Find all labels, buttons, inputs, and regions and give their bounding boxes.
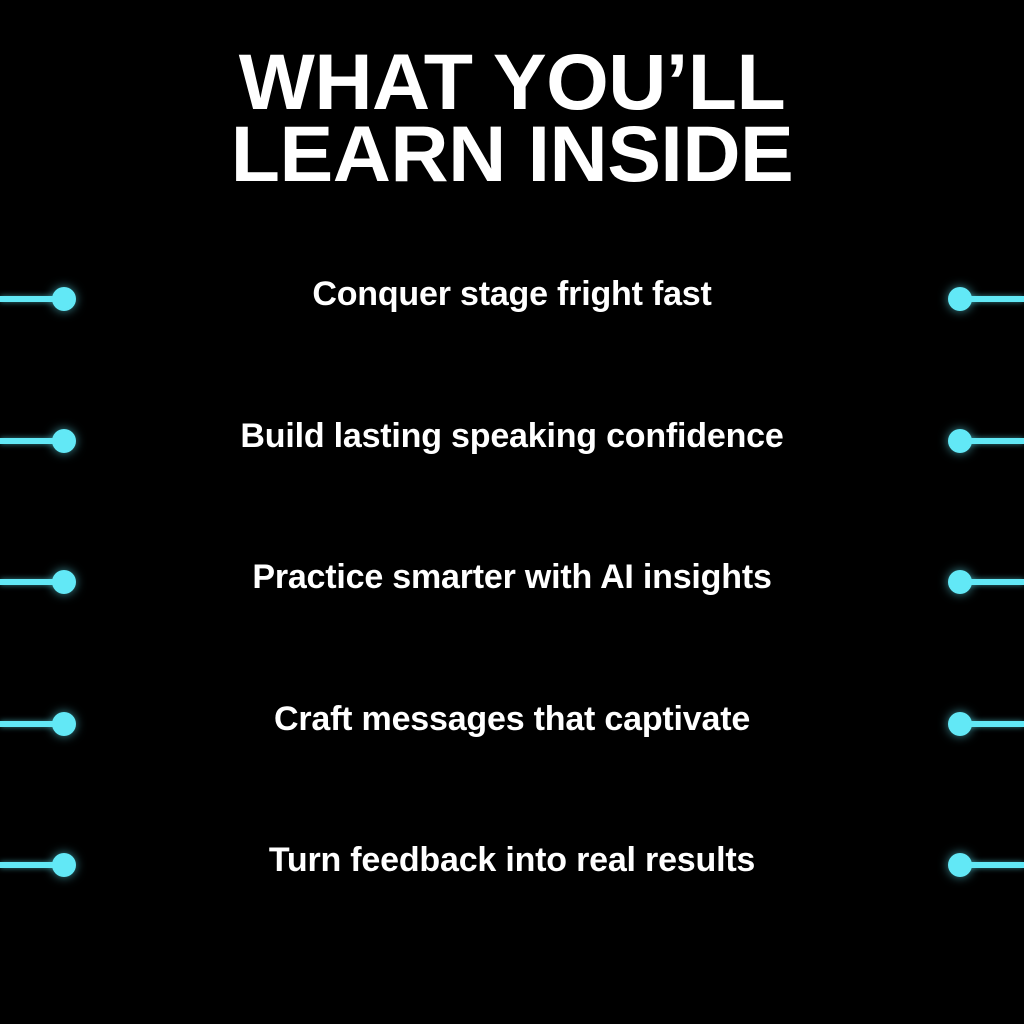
- bullet-connector-right: [948, 721, 1024, 727]
- bullet-connector-right: [948, 296, 1024, 302]
- bullet-connector-right: [948, 579, 1024, 585]
- list-item: Build lasting speaking confidence: [0, 394, 1024, 536]
- list-item-label: Practice smarter with AI insights: [0, 557, 1024, 597]
- list-item: Conquer stage fright fast: [0, 252, 1024, 394]
- bullet-dot-icon: [948, 712, 972, 736]
- list-item-label: Conquer stage fright fast: [0, 274, 1024, 314]
- list-item-label: Build lasting speaking confidence: [0, 416, 1024, 456]
- benefits-list: Conquer stage fright fast Build lasting …: [0, 252, 1024, 960]
- slide-canvas: WHAT YOU’LL LEARN INSIDE Conquer stage f…: [0, 0, 1024, 1024]
- page-title-line-2: LEARN INSIDE: [0, 118, 1024, 190]
- page-title: WHAT YOU’LL LEARN INSIDE: [0, 46, 1024, 190]
- bullet-connector-right: [948, 438, 1024, 444]
- bullet-connector-right: [948, 862, 1024, 868]
- bullet-dot-icon: [948, 429, 972, 453]
- bullet-dot-icon: [948, 853, 972, 877]
- list-item: Craft messages that captivate: [0, 677, 1024, 819]
- list-item: Turn feedback into real results: [0, 818, 1024, 960]
- list-item-label: Turn feedback into real results: [0, 840, 1024, 880]
- page-title-line-1: WHAT YOU’LL: [0, 46, 1024, 118]
- list-item: Practice smarter with AI insights: [0, 535, 1024, 677]
- list-item-label: Craft messages that captivate: [0, 699, 1024, 739]
- bullet-dot-icon: [948, 287, 972, 311]
- bullet-dot-icon: [948, 570, 972, 594]
